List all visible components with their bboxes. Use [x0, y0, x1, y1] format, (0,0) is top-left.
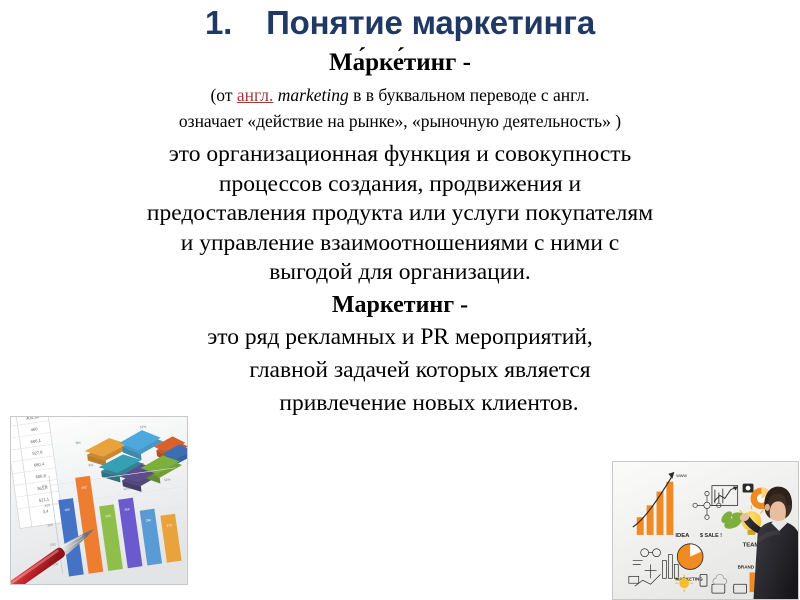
device-icon [743, 484, 754, 493]
etymology-line-2: означает «действие на рынке», «рыночную … [30, 108, 770, 134]
slide: 1.Понятие маркетинга Ма́рке́тинг - (от а… [0, 0, 800, 600]
svg-text:IDEA: IDEA [675, 533, 690, 539]
svg-text:200: 200 [50, 542, 56, 547]
svg-text:9%: 9% [88, 463, 93, 468]
definition2-line: привлечение новых клиентов. [30, 387, 770, 420]
etymology-line-1: (от англ. marketing в в буквальном перев… [30, 82, 770, 108]
definition-line: предоставления продукта или услуги покуп… [30, 199, 770, 229]
business-charts-illustration: 404,36 460 686,1 527,8 680,4 606,8 361,8… [11, 417, 187, 584]
svg-text:11%: 11% [164, 477, 171, 482]
svg-text:286: 286 [146, 518, 152, 523]
businessman-whiteboard-photo: www [612, 461, 799, 600]
definition-line: и управление взаимоотношениями с ними с [30, 229, 770, 259]
definition-line: процессов создания, продвижения и [30, 170, 770, 200]
definition-block-1: это организационная функция и совокупнос… [30, 140, 770, 288]
term-heading-2: Маркетинг - [30, 290, 770, 321]
svg-text:356: 356 [124, 507, 130, 512]
pie-chart-doodle [677, 544, 703, 570]
etymology-prefix: (от [210, 85, 236, 105]
etymology-block: (от англ. marketing в в буквальном перев… [30, 82, 770, 134]
svg-text:400: 400 [44, 503, 50, 508]
svg-text:www: www [676, 474, 687, 479]
svg-text:300: 300 [47, 523, 53, 528]
title-text: Понятие маркетинга [266, 4, 595, 41]
english-source-link[interactable]: англ. [237, 85, 274, 105]
page-title: 1.Понятие маркетинга [0, 4, 800, 42]
slide-body: Ма́рке́тинг - (от англ. marketing в в бу… [30, 48, 770, 420]
etymology-foreign-word: marketing [273, 85, 348, 105]
svg-text:492: 492 [81, 485, 87, 490]
svg-text:BRAND: BRAND [738, 564, 755, 569]
etymology-line-1-rest: в в буквальном переводе с англ. [349, 85, 590, 105]
term-heading-1: Ма́рке́тинг - [30, 48, 770, 78]
svg-text:272: 272 [166, 523, 172, 528]
definition2-line: это ряд рекламных и PR мероприятий, [30, 321, 770, 354]
svg-text:340: 340 [105, 514, 111, 519]
svg-text:12%: 12% [123, 486, 130, 491]
svg-text:13%: 13% [139, 425, 146, 430]
title-number: 1. [205, 4, 232, 42]
svg-text:500: 500 [41, 484, 47, 489]
svg-text:$ SALE !: $ SALE ! [700, 533, 722, 539]
svg-text:8%: 8% [76, 441, 81, 446]
svg-text:380: 380 [64, 508, 70, 513]
business-charts-photo: 404,36 460 686,1 527,8 680,4 606,8 361,8… [10, 416, 188, 585]
definition2-line: главной задачей которых является [30, 354, 770, 387]
definition-line: это организационная функция и совокупнос… [30, 140, 770, 170]
definition-block-2: это ряд рекламных и PR мероприятий, глав… [30, 321, 770, 420]
definition-line: выгодой для организации. [30, 258, 770, 288]
whiteboard-illustration: www [613, 462, 798, 599]
